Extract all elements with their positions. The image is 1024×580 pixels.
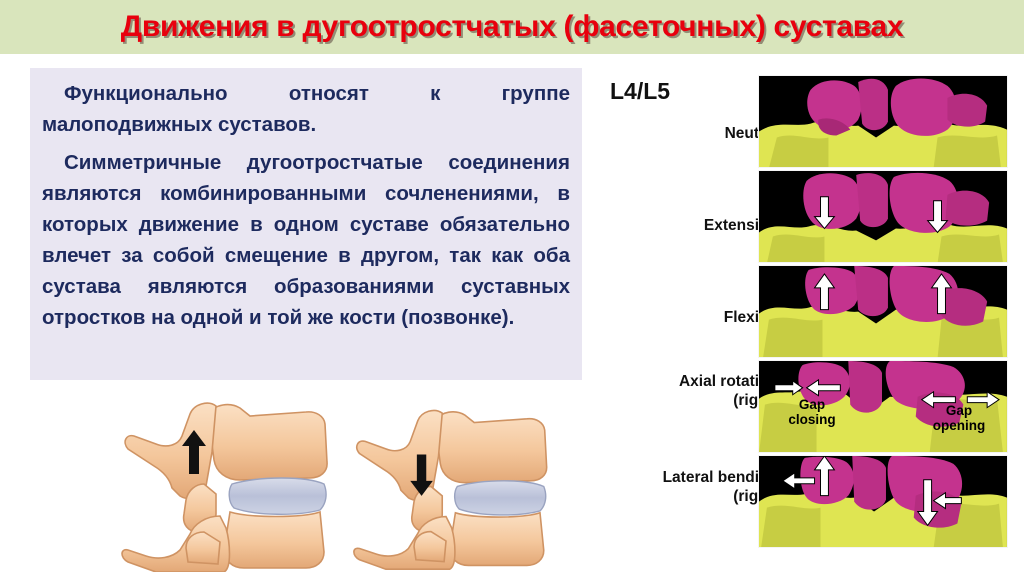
panel-flexion [758, 265, 1008, 358]
row-label-neutral: Neutral [598, 124, 778, 143]
vertebra-illustration-svg [120, 392, 565, 572]
panel-neutral-render [759, 76, 1007, 168]
row-label-axial-rotation: Axial rotation (right) [598, 372, 778, 410]
title-band: Движения в дугоотростчатых (фасеточных) … [0, 0, 1024, 54]
vertebra-illustration [120, 392, 565, 572]
annotation-gap-opening: Gap opening [919, 403, 999, 433]
row-label-extension: Extension [598, 216, 778, 235]
row-label-flexion: Flexion [598, 308, 778, 327]
panel-extension [758, 170, 1008, 263]
vertebra-pair-left [122, 403, 327, 572]
panel-lateral-bending-render [759, 456, 1007, 548]
panel-neutral [758, 75, 1008, 168]
panel-flexion-render [759, 266, 1007, 358]
paragraph-1: Функционально относят к группе малоподви… [42, 78, 570, 140]
panel-extension-render [759, 171, 1007, 263]
panel-lateral-bending [758, 455, 1008, 548]
mri-sequence-panel: L4/L5 Neutral Extension [600, 66, 1024, 546]
vertebra-pair-right [354, 411, 547, 570]
panel-axial-rotation: Gap closing Gap opening [758, 360, 1008, 453]
annotation-gap-closing: Gap closing [777, 397, 847, 427]
page-title: Движения в дугоотростчатых (фасеточных) … [121, 10, 904, 44]
level-heading: L4/L5 [610, 78, 670, 105]
row-label-lateral-bending: Lateral bending (right) [598, 468, 778, 506]
paragraph-2: Симметричные дугоотростчатые соединения … [42, 147, 570, 333]
description-card: Функционально относят к группе малоподви… [30, 68, 582, 380]
